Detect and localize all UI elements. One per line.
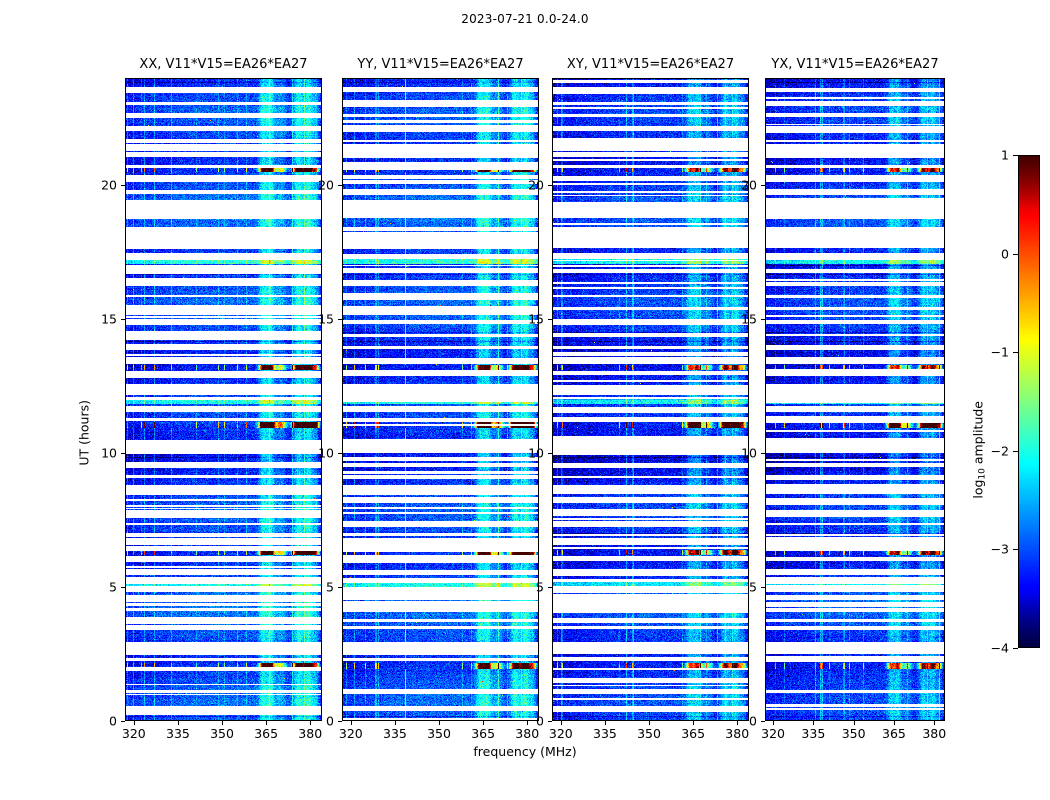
- panel-title-yy: YY, V11*V15=EA26*EA27: [357, 57, 523, 72]
- y-tick-mark: [121, 587, 125, 588]
- colorbar-tick-mark: [1013, 451, 1018, 452]
- y-tick-label: 10: [528, 446, 544, 461]
- waterfall-image-yx: [765, 78, 945, 721]
- panel-title-yx: YX, V11*V15=EA26*EA27: [771, 57, 938, 72]
- waterfall-image-xy: [552, 78, 749, 721]
- y-tick-mark: [548, 185, 552, 186]
- y-tick-mark: [761, 319, 765, 320]
- y-tick-mark: [121, 721, 125, 722]
- colorbar-label-sub: 10: [978, 468, 988, 479]
- panel-title-xy: XY, V11*V15=EA26*EA27: [567, 57, 734, 72]
- x-tick-mark: [483, 721, 484, 725]
- x-tick-mark: [266, 721, 267, 725]
- x-tick-label: 380: [298, 726, 322, 741]
- colorbar-label: log10 amplitude: [971, 401, 986, 499]
- y-tick-label: 20: [318, 178, 334, 193]
- y-tick-label: 5: [749, 580, 757, 595]
- x-tick-mark: [854, 721, 855, 725]
- x-tick-mark: [693, 721, 694, 725]
- x-tick-mark: [178, 721, 179, 725]
- colorbar[interactable]: −4−3−2−101: [1018, 155, 1040, 648]
- x-tick-label: 350: [210, 726, 234, 741]
- y-tick-label: 5: [326, 580, 334, 595]
- colorbar-tick-label: −3: [991, 542, 1009, 557]
- x-tick-label: 320: [761, 726, 785, 741]
- y-tick-mark: [338, 319, 342, 320]
- y-tick-label: 20: [741, 178, 757, 193]
- x-tick-label: 320: [339, 726, 363, 741]
- panel-title-xx: XX, V11*V15=EA26*EA27: [139, 57, 307, 72]
- y-tick-mark: [338, 453, 342, 454]
- y-tick-label: 10: [318, 446, 334, 461]
- x-tick-mark: [934, 721, 935, 725]
- x-tick-mark: [649, 721, 650, 725]
- y-tick-label: 15: [741, 312, 757, 327]
- x-axis-label: frequency (MHz): [0, 744, 1050, 759]
- y-tick-mark: [761, 185, 765, 186]
- colorbar-tick-mark: [1013, 155, 1018, 156]
- y-tick-mark: [121, 319, 125, 320]
- y-tick-label: 0: [109, 714, 117, 729]
- x-tick-label: 335: [383, 726, 407, 741]
- x-tick-label: 365: [254, 726, 278, 741]
- y-tick-label: 15: [318, 312, 334, 327]
- y-tick-mark: [548, 721, 552, 722]
- x-tick-label: 350: [637, 726, 661, 741]
- colorbar-tick-label: −4: [991, 641, 1009, 656]
- y-tick-label: 20: [528, 178, 544, 193]
- y-tick-label: 15: [101, 312, 117, 327]
- y-tick-mark: [761, 453, 765, 454]
- colorbar-tick-mark: [1013, 549, 1018, 550]
- x-tick-label: 320: [122, 726, 146, 741]
- figure-canvas: 2023-07-21 0.0-24.0 XX, V11*V15=EA26*EA2…: [0, 0, 1050, 800]
- x-tick-label: 365: [471, 726, 495, 741]
- x-tick-mark: [561, 721, 562, 725]
- y-tick-label: 0: [749, 714, 757, 729]
- panel-yx[interactable]: YX, V11*V15=EA26*EA27 320335350365380051…: [765, 78, 945, 721]
- y-tick-label: 20: [101, 178, 117, 193]
- x-tick-mark: [351, 721, 352, 725]
- x-tick-label: 335: [166, 726, 190, 741]
- y-tick-mark: [121, 185, 125, 186]
- x-tick-mark: [310, 721, 311, 725]
- y-tick-mark: [548, 587, 552, 588]
- y-axis-label: UT (hours): [77, 400, 92, 466]
- y-tick-label: 5: [109, 580, 117, 595]
- colorbar-tick-label: 0: [1001, 246, 1009, 261]
- colorbar-tick-label: −2: [991, 443, 1009, 458]
- y-tick-mark: [338, 587, 342, 588]
- x-tick-label: 350: [427, 726, 451, 741]
- waterfall-image-yy: [342, 78, 539, 721]
- x-tick-mark: [222, 721, 223, 725]
- colorbar-tick-mark: [1013, 352, 1018, 353]
- colorbar-label-main: log: [971, 480, 986, 499]
- y-tick-label: 15: [528, 312, 544, 327]
- colorbar-frame: [1018, 155, 1040, 648]
- x-tick-label: 365: [882, 726, 906, 741]
- x-tick-mark: [773, 721, 774, 725]
- x-tick-label: 320: [549, 726, 573, 741]
- y-tick-label: 10: [741, 446, 757, 461]
- x-tick-label: 335: [593, 726, 617, 741]
- x-tick-label: 350: [842, 726, 866, 741]
- waterfall-image-xx: [125, 78, 322, 721]
- y-tick-mark: [338, 185, 342, 186]
- x-tick-mark: [527, 721, 528, 725]
- x-tick-mark: [894, 721, 895, 725]
- y-tick-label: 5: [536, 580, 544, 595]
- x-tick-label: 365: [681, 726, 705, 741]
- colorbar-tick-mark: [1013, 648, 1018, 649]
- x-tick-mark: [395, 721, 396, 725]
- x-tick-mark: [605, 721, 606, 725]
- x-tick-mark: [134, 721, 135, 725]
- x-tick-label: 335: [801, 726, 825, 741]
- y-tick-label: 0: [326, 714, 334, 729]
- figure-suptitle: 2023-07-21 0.0-24.0: [0, 12, 1050, 26]
- panel-yy[interactable]: YY, V11*V15=EA26*EA27 320335350365380051…: [342, 78, 539, 721]
- y-tick-mark: [548, 319, 552, 320]
- colorbar-tick-label: 1: [1001, 148, 1009, 163]
- colorbar-tick-mark: [1013, 254, 1018, 255]
- x-tick-label: 380: [725, 726, 749, 741]
- y-tick-mark: [548, 453, 552, 454]
- x-tick-label: 380: [922, 726, 946, 741]
- colorbar-tick-label: −1: [991, 345, 1009, 360]
- x-tick-mark: [439, 721, 440, 725]
- x-tick-mark: [813, 721, 814, 725]
- y-tick-mark: [121, 453, 125, 454]
- y-tick-label: 0: [536, 714, 544, 729]
- x-tick-mark: [737, 721, 738, 725]
- y-tick-mark: [761, 587, 765, 588]
- panel-xy[interactable]: XY, V11*V15=EA26*EA27 320335350365380051…: [552, 78, 749, 721]
- colorbar-label-tail: amplitude: [971, 401, 986, 468]
- y-tick-mark: [338, 721, 342, 722]
- panel-xx[interactable]: XX, V11*V15=EA26*EA27 320335350365380051…: [125, 78, 322, 721]
- y-tick-mark: [761, 721, 765, 722]
- y-tick-label: 10: [101, 446, 117, 461]
